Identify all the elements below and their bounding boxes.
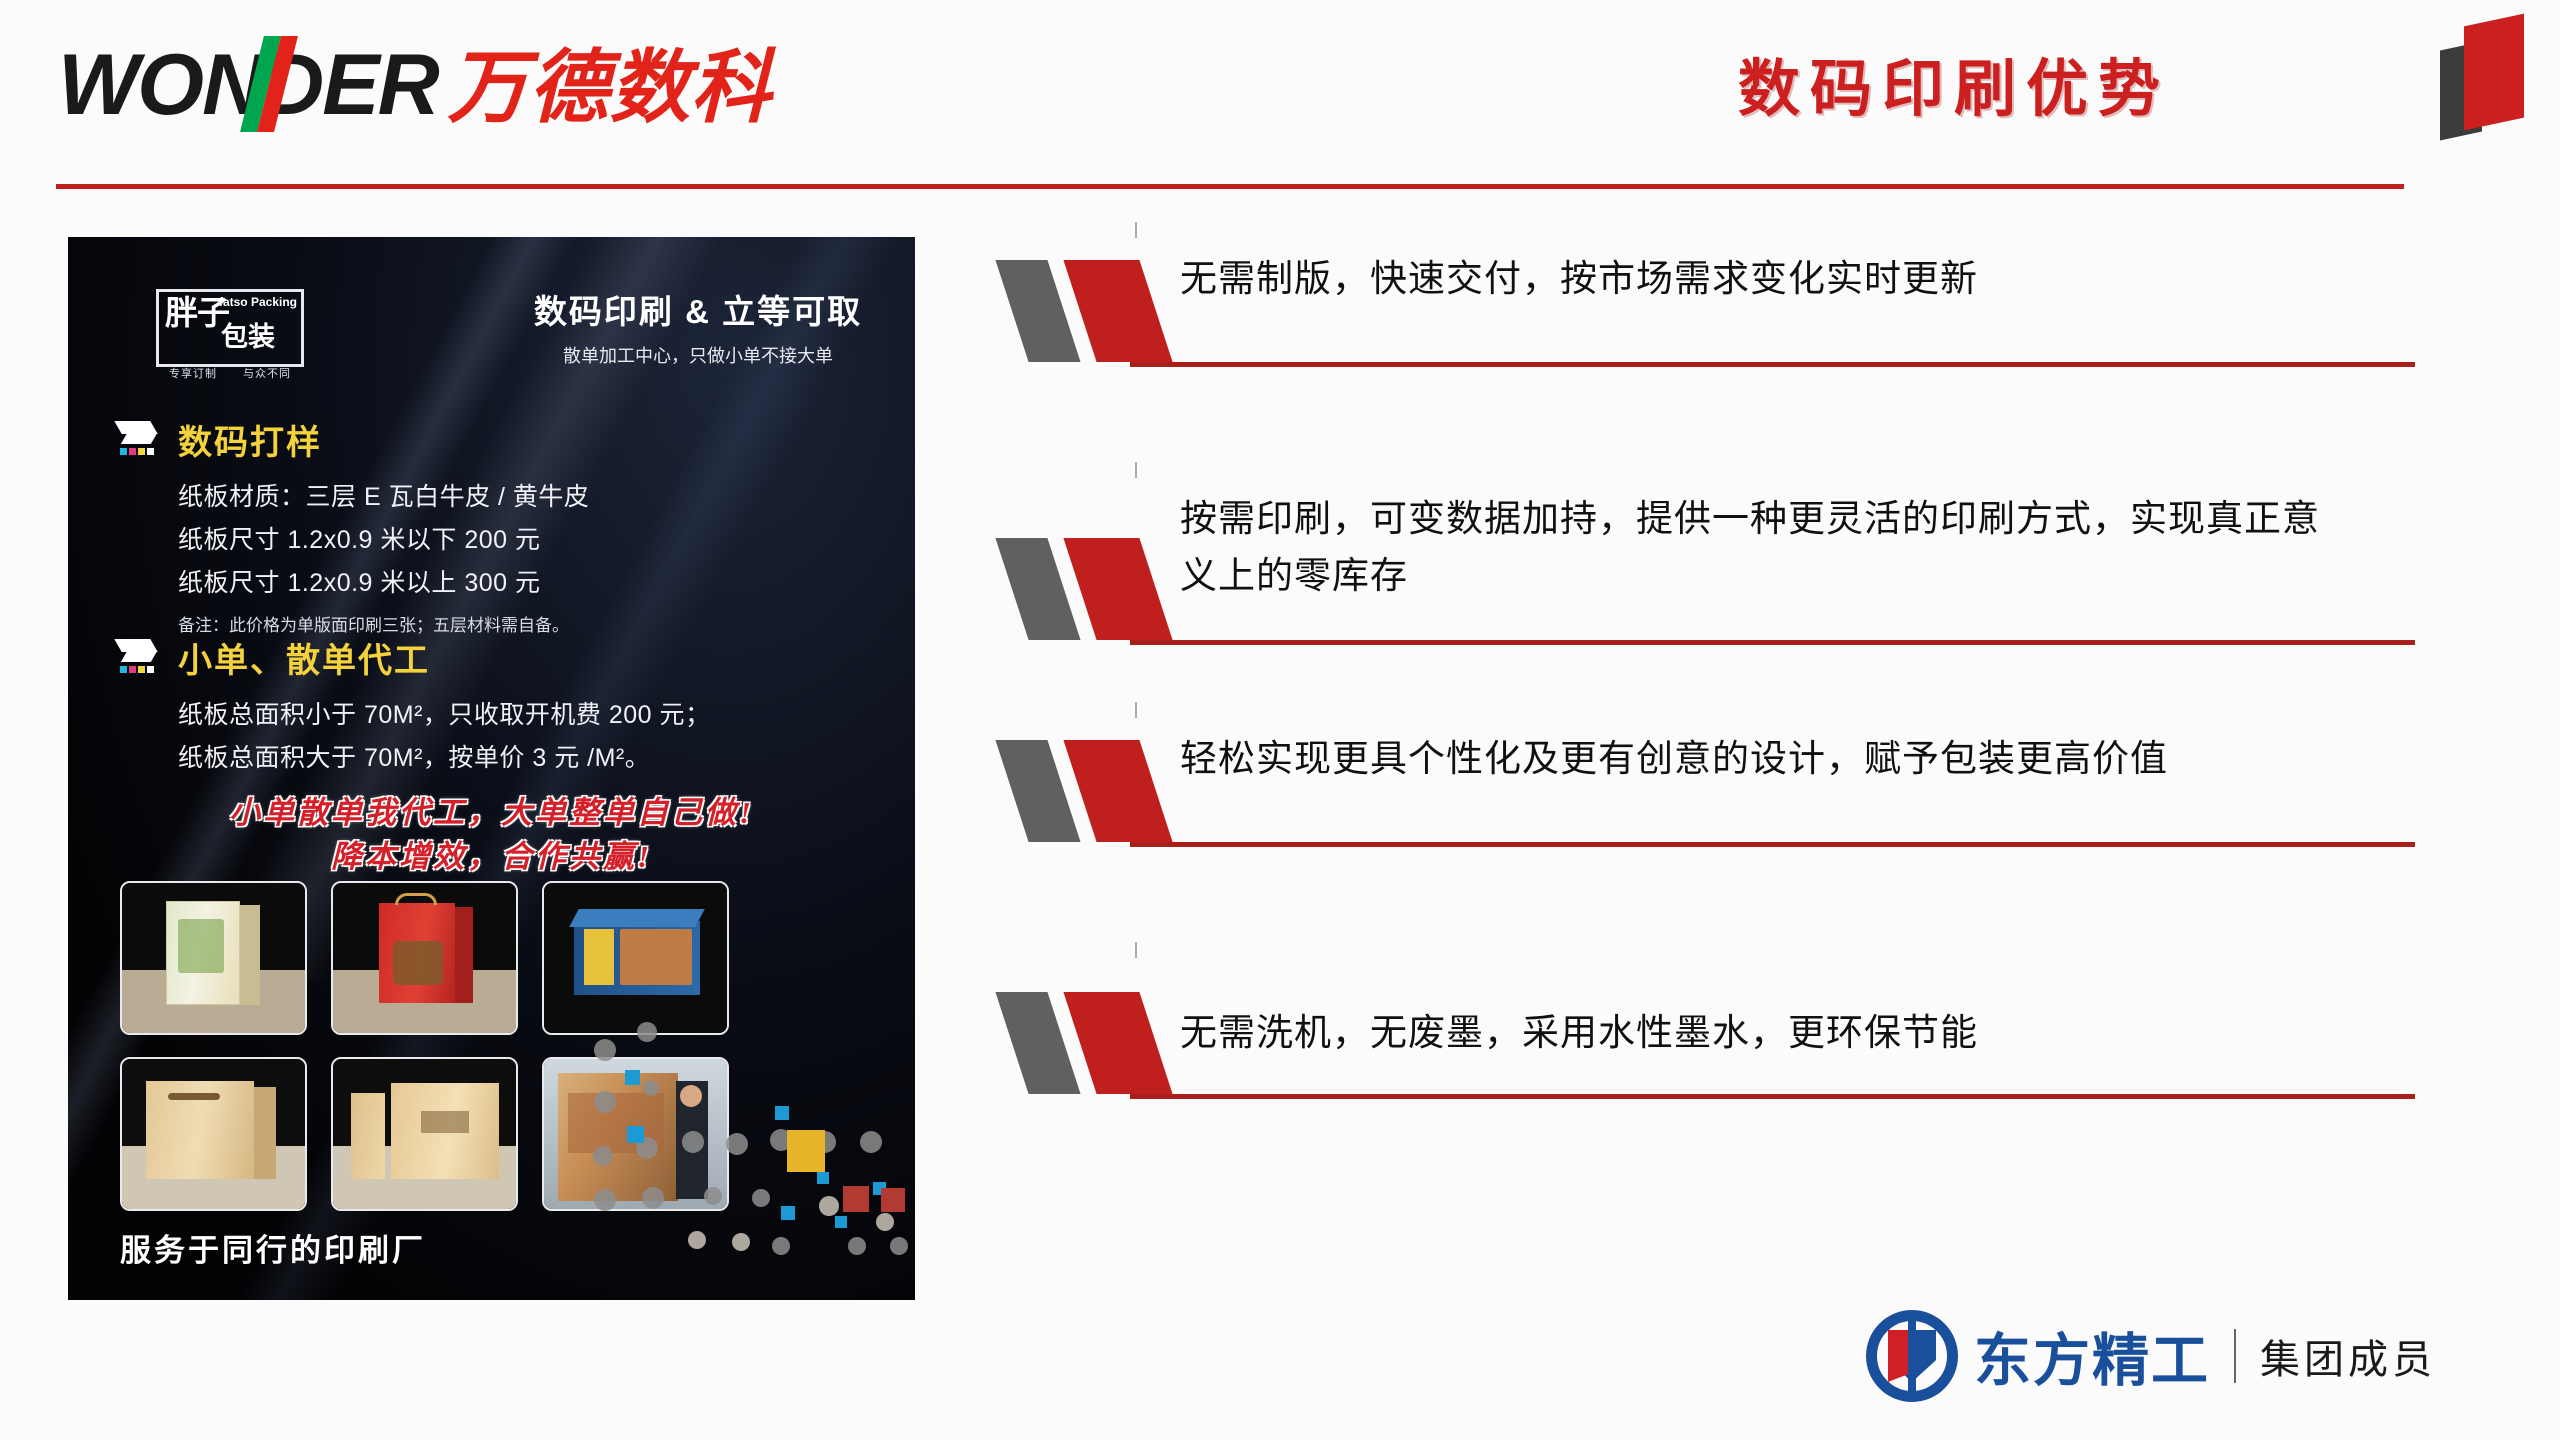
- footer-member-label: 集团成员: [2260, 1327, 2436, 1385]
- chevron-marker-icon-1: [1010, 260, 1190, 365]
- dongfang-emblem-icon: [1866, 1310, 1958, 1402]
- tick-mark-1: [1135, 222, 1137, 238]
- advantage-item-3: 轻松实现更具个性化及更有创意的设计，赋予包装更高价值: [1010, 730, 2430, 970]
- chevron-marker-icon-2: [1010, 538, 1190, 643]
- poster-headline: 数码印刷 & 立等可取: [498, 285, 898, 333]
- brand-name-en: fatso Packing: [219, 296, 297, 309]
- poster-section1-line-3: 纸板尺寸 1.2x0.9 米以上 300 元: [178, 563, 541, 599]
- advantage-item-2: 按需印刷，可变数据加持，提供一种更灵活的印刷方式，实现真正意义上的零库存: [1010, 490, 2430, 730]
- advantage-item-4: 无需洗机，无废墨，采用水性墨水，更环保节能: [1010, 970, 2430, 1210]
- tick-mark-2: [1135, 462, 1137, 478]
- advantage-underline-2: [1130, 640, 2415, 645]
- product-photo-classic-kraft-gift-boxes: [331, 1057, 518, 1211]
- brand-tagline-left: 专享订制: [169, 365, 217, 381]
- poster-section-title-2: 小单、散单代工: [178, 633, 430, 682]
- advantages-list: 无需制版，快速交付，按市场需求变化实时更新 按需印刷，可变数据加持，提供一种更灵…: [1010, 250, 2430, 1210]
- poster-section1-line-2: 纸板尺寸 1.2x0.9 米以下 200 元: [178, 520, 541, 556]
- poster-section2-line-2: 纸板总面积大于 70M²，按单价 3 元 /M²。: [178, 738, 650, 774]
- chevron-marker-icon-4: [1010, 992, 1190, 1097]
- header-divider: [56, 184, 2404, 189]
- poster-section2-line-1: 纸板总面积小于 70M²，只收取开机费 200 元；: [178, 695, 711, 731]
- advantage-text-4: 无需洗机，无废墨，采用水性墨水，更环保节能: [1180, 1004, 2355, 1061]
- brand-packaging-label: 包装: [221, 324, 275, 351]
- poster-headline-group: 数码印刷 & 立等可取 散单加工中心，只做小单不接大单: [498, 285, 898, 368]
- fatso-brand-mark: 胖子 fatso Packing 包装: [156, 289, 304, 367]
- poster-bottom-caption: 服务于同行的印刷厂: [120, 1225, 426, 1270]
- brand-tagline-right: 与众不同: [243, 365, 291, 381]
- advantage-text-2: 按需印刷，可变数据加持，提供一种更灵活的印刷方式，实现真正意义上的零库存: [1180, 490, 2355, 605]
- advantage-underline-1: [1130, 362, 2415, 367]
- advantage-underline-3: [1130, 842, 2415, 847]
- brand-logo: WONDER 万德数科: [58, 42, 772, 128]
- advantage-item-1: 无需制版，快速交付，按市场需求变化实时更新: [1010, 250, 2430, 490]
- poster-slogan-2: 降本增效，合作共赢!: [68, 831, 915, 876]
- product-photo-honey-gift-box: [120, 881, 307, 1035]
- tick-mark-3: [1135, 702, 1137, 718]
- poster-subheadline: 散单加工中心，只做小单不接大单: [498, 342, 898, 368]
- tick-mark-4: [1135, 942, 1137, 958]
- advantage-text-1: 无需制版，快速交付，按市场需求变化实时更新: [1180, 250, 2355, 307]
- logo-wordmark-cn: 万德数科: [448, 48, 772, 128]
- arrow-marker-icon-2: [114, 637, 166, 675]
- footer-divider: [2234, 1329, 2236, 1383]
- chevron-marker-icon-3: [1010, 740, 1190, 845]
- product-photo-red-braised-meat-box: [331, 881, 518, 1035]
- page-header: WONDER 万德数科 数码印刷优势: [0, 0, 2560, 200]
- advantage-text-3: 轻松实现更具个性化及更有创意的设计，赋予包装更高价值: [1180, 730, 2355, 787]
- poster-dot-pattern-decoration: [585, 1010, 915, 1300]
- brand-taglines: 专享订制 与众不同: [156, 365, 304, 381]
- footer-group-logo: 东方精工 集团成员: [1866, 1310, 2436, 1402]
- advantage-underline-4: [1130, 1094, 2415, 1099]
- corner-decoration-icon: [2422, 6, 2542, 136]
- poster-section1-line-1: 纸板材质：三层 E 瓦白牛皮 / 黄牛皮: [178, 477, 589, 513]
- poster-slogan-1: 小单散单我代工，大单整单自己做!: [68, 787, 915, 832]
- promo-poster-image: 胖子 fatso Packing 包装 专享订制 与众不同 数码印刷 & 立等可…: [68, 237, 915, 1300]
- poster-section-title-1: 数码打样: [178, 415, 322, 464]
- footer-company-name: 东方精工: [1974, 1315, 2210, 1397]
- page-title: 数码印刷优势: [1738, 38, 2170, 128]
- arrow-marker-icon-1: [114, 419, 166, 457]
- product-photo-kraft-handle-box: [120, 1057, 307, 1211]
